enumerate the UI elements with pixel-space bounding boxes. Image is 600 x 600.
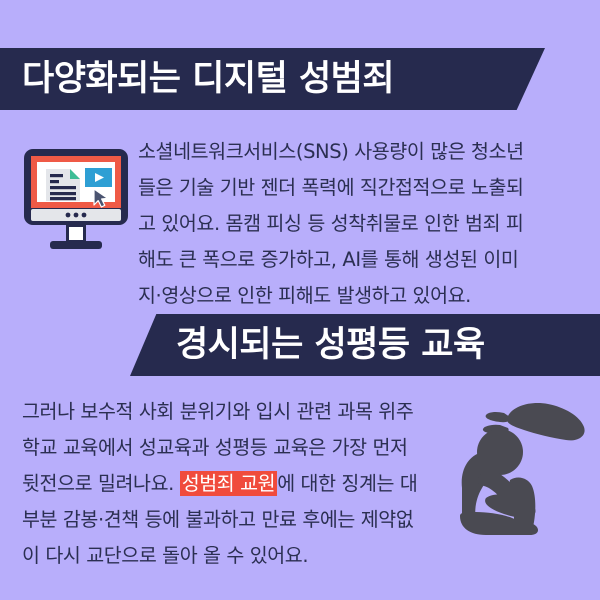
section1-paragraph-line-4: 해도 큰 폭으로 증가하고, AI를 통해 생성된 이미 — [138, 242, 590, 278]
section2-line3-post: 에 대한 징계는 대 — [277, 472, 417, 495]
section1-paragraph-line-5: 지·영상으로 인한 피해도 발생하고 있어요. — [138, 278, 590, 314]
section2-line3-pre: 뒷전으로 밀려나요. — [22, 472, 180, 495]
section1-paragraph: 소셜네트워크서비스(SNS) 사용량이 많은 청소년 들은 기술 기반 젠더 폭… — [138, 134, 590, 314]
highlighted-term-sex-offender-teacher: 성범죄 교원 — [180, 471, 278, 496]
section2-paragraph-line-4: 부분 감봉·견책 등에 불과하고 만료 후에는 제약없 — [22, 502, 477, 538]
infographic-card: 다양화되는 디지털 성범죄 — [0, 0, 600, 600]
section2-paragraph-line-1: 그러나 보수적 사회 분위기와 입시 관련 과목 위주 — [22, 394, 477, 430]
section2-banner-title: 경시되는 성평등 교육 — [176, 328, 485, 363]
section1-banner-title: 다양화되는 디지털 성범죄 — [22, 62, 394, 97]
section1-banner: 다양화되는 디지털 성범죄 — [0, 48, 545, 110]
computer-monitor-media-icon — [22, 147, 130, 259]
section2-paragraph: 그러나 보수적 사회 분위기와 입시 관련 과목 위주 학교 교육에서 성교육과… — [22, 394, 477, 574]
section1-paragraph-line-2: 들은 기술 기반 젠더 폭력에 직간접적으로 노출되 — [138, 170, 590, 206]
section1-paragraph-line-3: 고 있어요. 몸캠 피싱 등 성착취물로 인한 범죄 피 — [138, 206, 590, 242]
section2-paragraph-line-5: 이 다시 교단으로 돌아 올 수 있어요. — [22, 538, 477, 574]
section2-paragraph-line-3: 뒷전으로 밀려나요. 성범죄 교원에 대한 징계는 대 — [22, 466, 477, 502]
section1-paragraph-line-1: 소셜네트워크서비스(SNS) 사용량이 많은 청소년 — [138, 134, 590, 170]
section2-paragraph-line-2: 학교 교육에서 성교육과 성평등 교육은 가장 먼저 — [22, 430, 477, 466]
section2-banner: 경시되는 성평등 교육 — [130, 314, 600, 376]
